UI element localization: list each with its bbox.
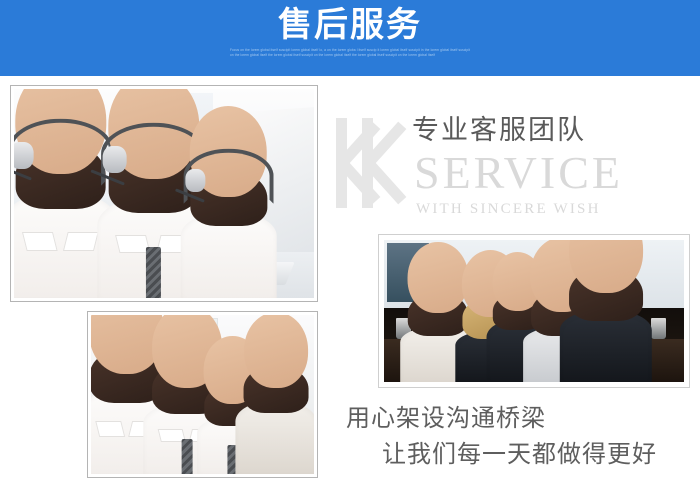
headset-earcup: [185, 169, 205, 192]
hair: [15, 142, 106, 208]
photo-frame: [384, 240, 684, 382]
collar-left: [22, 232, 58, 251]
collar-right: [63, 232, 99, 251]
headset-earcup: [14, 142, 33, 169]
chevron-left-icon-1: [336, 118, 347, 208]
agent-female-back: [194, 160, 263, 298]
collar-left: [95, 421, 125, 437]
agent-female-front: [20, 127, 101, 298]
necktie: [181, 439, 192, 474]
team-meeting-scene: [91, 315, 314, 474]
double-chevron-icon: [332, 118, 394, 208]
face: [569, 240, 643, 293]
headline-block: 专业客服团队 SERVICE WITH SINCERE WISH: [412, 112, 692, 218]
call-center-scene: [14, 89, 314, 298]
hair: [408, 292, 468, 336]
hair: [244, 365, 309, 413]
page-banner: 售后服务 Focus on the lorem global itself su…: [0, 0, 700, 76]
slogan-line-2: 让我们每一天都做得更好: [346, 436, 686, 472]
headline-chinese: 专业客服团队: [412, 112, 692, 150]
slogan-block: 用心架设沟通桥梁 让我们每一天都做得更好: [346, 400, 686, 472]
face: [408, 242, 468, 313]
banner-content: 售后服务 Focus on the lorem global itself su…: [0, 0, 700, 57]
necktie: [146, 247, 161, 298]
face: [244, 315, 309, 388]
photo-business-discussion: [378, 234, 690, 388]
hair: [569, 267, 643, 321]
participant-man-standing-suit: [573, 266, 639, 382]
presenter-female-standing: [247, 356, 305, 474]
hair: [190, 170, 267, 227]
headline-tagline: WITH SINCERE WISH: [412, 196, 692, 218]
photo-team-meeting: [87, 311, 318, 478]
photo-frame: [91, 315, 314, 474]
after-sales-service-page: 售后服务 Focus on the lorem global itself su…: [0, 0, 700, 494]
business-discussion-scene: [384, 240, 684, 382]
chevron-left-icon-2: [362, 118, 373, 208]
photo-frame: [14, 89, 314, 298]
water-glass-right: [651, 318, 666, 339]
photo-call-center-team: [10, 85, 318, 302]
banner-subtext: Focus on the lorem global itself suscipi…: [230, 46, 470, 57]
page-title: 售后服务: [0, 0, 700, 46]
slogan-line-1: 用心架设沟通桥梁: [346, 400, 686, 436]
headset-earcup: [103, 146, 127, 173]
headline-english: SERVICE: [412, 150, 692, 196]
